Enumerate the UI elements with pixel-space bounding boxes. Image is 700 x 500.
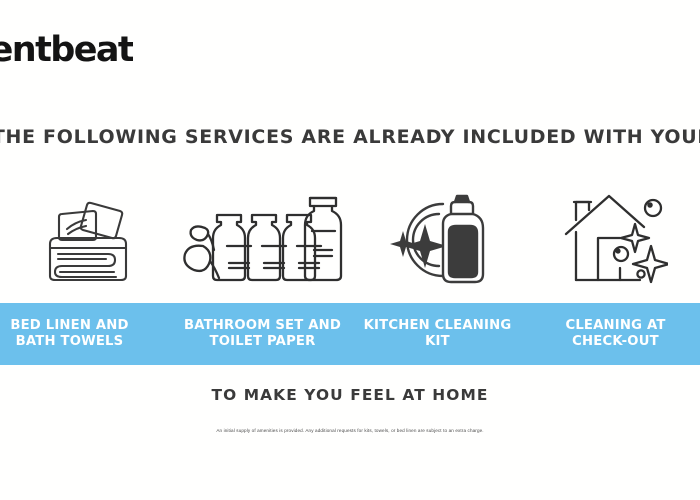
toiletry-bottles-icon bbox=[179, 184, 347, 288]
footer-disclaimer: An initial supply of amenities is provid… bbox=[0, 419, 700, 437]
sparkling-house-icon bbox=[558, 184, 668, 288]
page-title-text: THE FOLLOWING SERVICES ARE ALREADY INCLU… bbox=[0, 126, 700, 149]
service-label-bed-linen: BED LINEN AND BATH TOWELS bbox=[0, 318, 175, 349]
service-label-text: BATHROOM SET AND TOILET PAPER bbox=[179, 318, 346, 349]
service-label-checkout-cleaning: CLEANING AT CHECK-OUT bbox=[525, 318, 700, 349]
service-label-text: BED LINEN AND BATH TOWELS bbox=[0, 318, 171, 349]
service-icon-cell-bed-linen bbox=[0, 176, 175, 296]
footer-tagline: TO MAKE YOU FEEL AT HOME bbox=[0, 386, 700, 405]
footer-tagline-text: TO MAKE YOU FEEL AT HOME bbox=[212, 386, 489, 404]
service-label-kitchen-kit: KITCHEN CLEANING KIT bbox=[350, 318, 525, 349]
page-title: THE FOLLOWING SERVICES ARE ALREADY INCLU… bbox=[0, 126, 700, 149]
footer-disclaimer-text: An initial supply of amenities is provid… bbox=[216, 428, 483, 433]
service-label-text: KITCHEN CLEANING KIT bbox=[354, 318, 521, 349]
service-icon-cell-bathroom-set bbox=[175, 176, 350, 296]
service-label-bathroom-set: BATHROOM SET AND TOILET PAPER bbox=[175, 318, 350, 349]
promo-page: rentbeat THE FOLLOWING SERVICES ARE ALRE… bbox=[0, 0, 700, 500]
service-icon-cell-checkout-cleaning bbox=[525, 176, 700, 296]
dish-soap-and-plate-icon bbox=[385, 184, 491, 288]
service-label-text: CLEANING AT CHECK-OUT bbox=[529, 318, 700, 349]
brand-wordmark: rentbeat bbox=[0, 33, 133, 68]
service-icons-row bbox=[0, 176, 700, 296]
folded-towels-and-pillows-icon bbox=[36, 184, 140, 288]
service-icon-cell-kitchen-kit bbox=[350, 176, 525, 296]
service-labels-band: BED LINEN AND BATH TOWELS BATHROOM SET A… bbox=[0, 303, 700, 365]
brand-logo: rentbeat bbox=[0, 28, 133, 72]
